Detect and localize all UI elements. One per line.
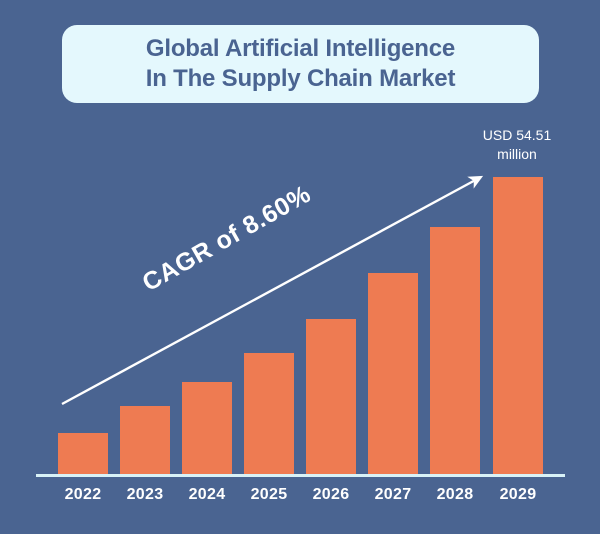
x-tick-label-2022: 2022 — [48, 486, 118, 504]
infographic-canvas: Global Artificial Intelligence In The Su… — [0, 0, 600, 534]
x-tick-label-2026: 2026 — [296, 486, 366, 504]
x-tick-label-2028: 2028 — [420, 486, 490, 504]
bar-2027 — [368, 273, 418, 476]
value-callout: USD 54.51 million — [462, 126, 572, 164]
bar-2029 — [493, 177, 543, 476]
bar-chart-plot: 2022 2023 2024 2025 2026 2027 2028 2029 — [0, 0, 600, 534]
bar-2024 — [182, 382, 232, 476]
x-tick-label-2023: 2023 — [110, 486, 180, 504]
x-tick-label-2029: 2029 — [483, 486, 553, 504]
x-axis-line — [36, 474, 565, 477]
x-tick-label-2025: 2025 — [234, 486, 304, 504]
bar-2022 — [58, 433, 108, 476]
value-callout-line-2: million — [462, 145, 572, 164]
x-tick-label-2024: 2024 — [172, 486, 242, 504]
x-tick-label-2027: 2027 — [358, 486, 428, 504]
bar-2025 — [244, 353, 294, 476]
bar-2026 — [306, 319, 356, 476]
bar-2023 — [120, 406, 170, 476]
bar-2028 — [430, 227, 480, 476]
value-callout-line-1: USD 54.51 — [462, 126, 572, 145]
